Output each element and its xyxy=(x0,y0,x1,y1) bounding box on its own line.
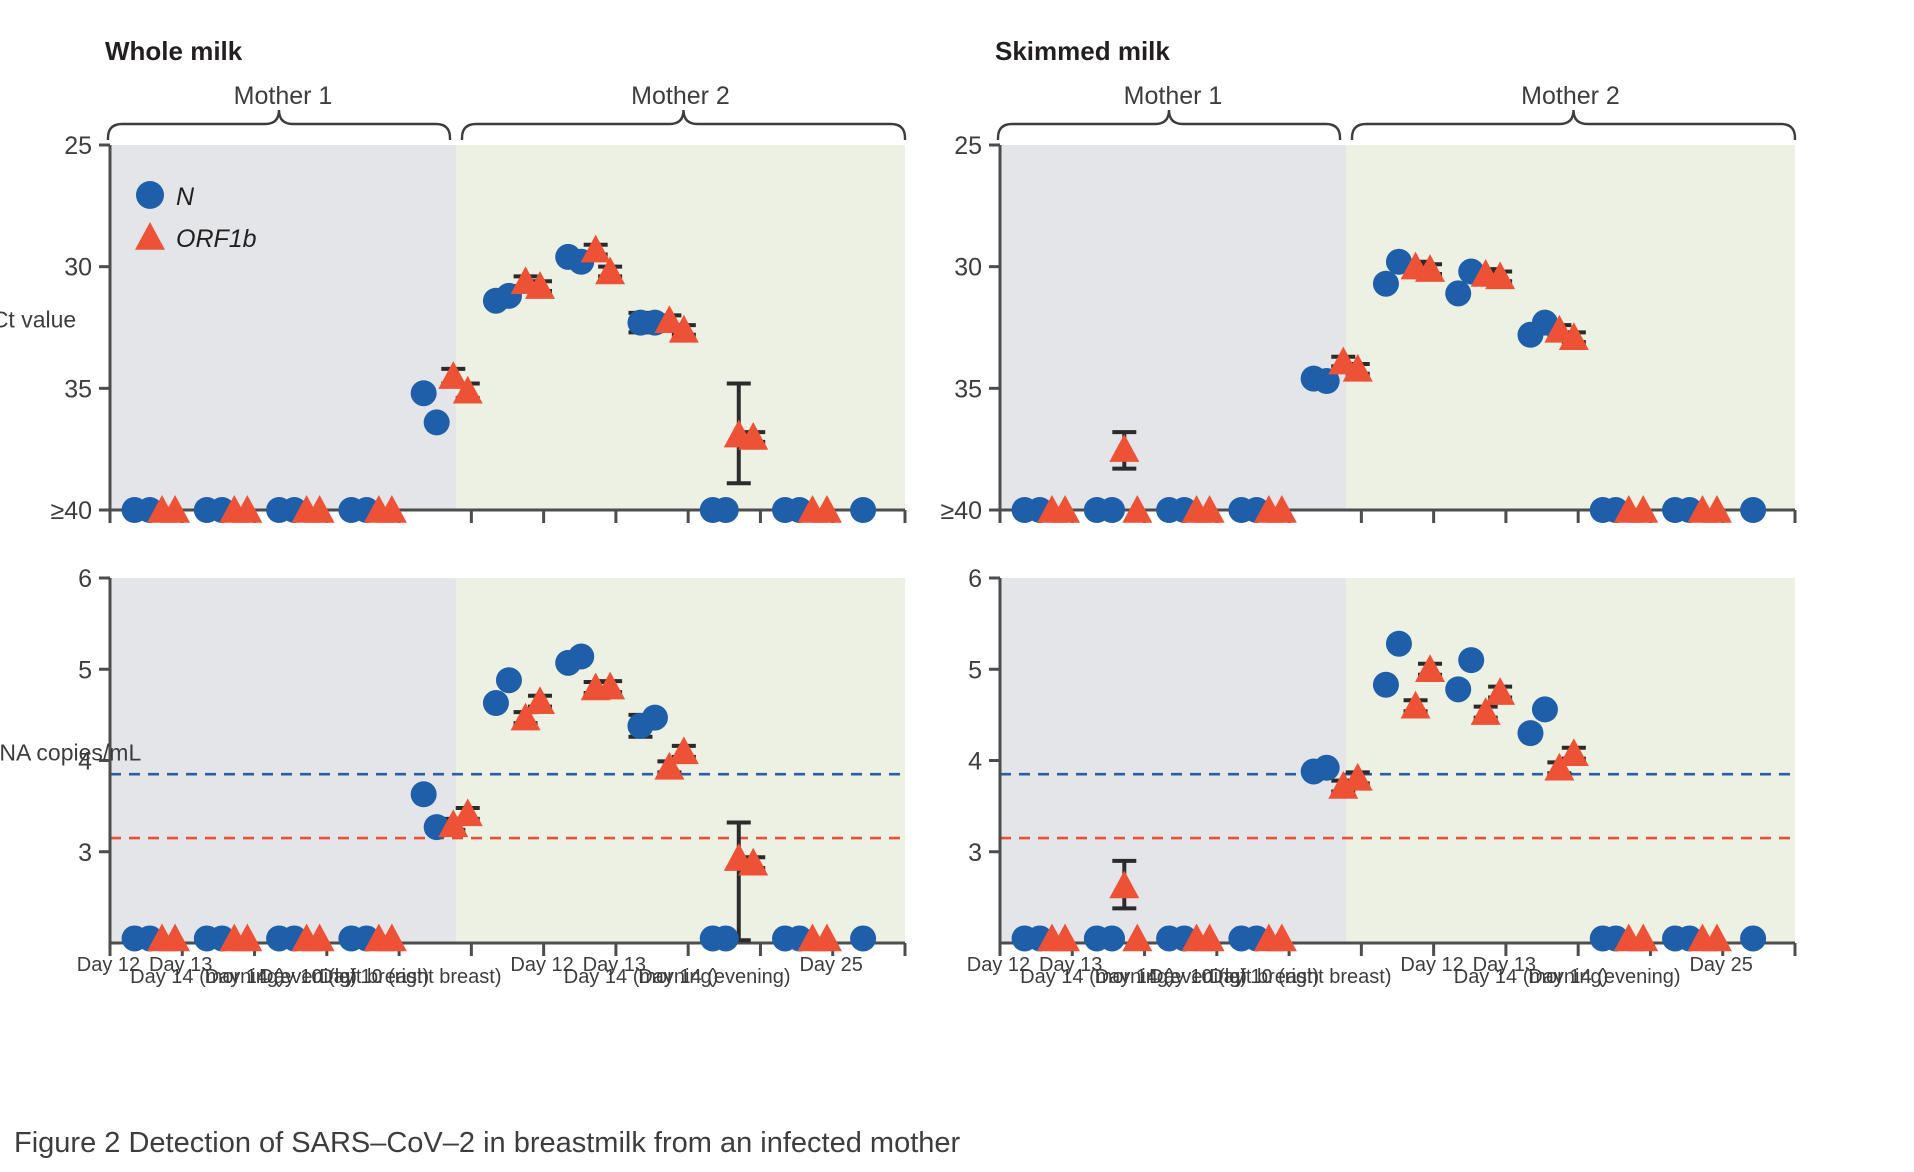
data-point-n xyxy=(1373,672,1399,698)
x-tick-label: Day 14 (evening) xyxy=(638,966,790,988)
y-tick-label: 30 xyxy=(64,254,92,282)
data-point-n xyxy=(1445,676,1471,702)
y-tick-label: 25 xyxy=(954,132,982,160)
data-point-n xyxy=(850,925,876,951)
y-tick-label: ≥40 xyxy=(50,497,92,525)
legend-label-orf1b: ORF1b xyxy=(176,225,257,253)
group-label-mother2: Mother 2 xyxy=(1521,82,1620,110)
mother2-band xyxy=(1346,145,1795,510)
legend-label-n: N xyxy=(176,183,195,211)
group-label-mother2: Mother 2 xyxy=(631,82,730,110)
mother1-band xyxy=(1000,578,1346,943)
data-point-n xyxy=(1445,280,1471,306)
y-tick-label: 5 xyxy=(78,656,92,684)
data-point-n xyxy=(1314,755,1340,781)
data-point-n xyxy=(411,781,437,807)
data-point-n xyxy=(424,409,450,435)
y-tick-label: 25 xyxy=(64,132,92,160)
group-brace xyxy=(108,110,450,140)
legend-marker-n-icon xyxy=(136,181,164,209)
x-tick-label: Day 25 xyxy=(1689,954,1752,976)
y-tick-label: 3 xyxy=(78,839,92,867)
figure-caption: Figure 2 Detection of SARS–CoV–2 in brea… xyxy=(14,1127,961,1159)
x-tick-label: Day 25 xyxy=(799,954,862,976)
data-point-n xyxy=(713,497,739,523)
group-label-mother1: Mother 1 xyxy=(234,82,333,110)
group-header-skim: Mother 1Mother 2 xyxy=(998,82,1795,140)
panel-title-whole-milk: Whole milk xyxy=(105,36,243,66)
y-tick-label: 35 xyxy=(64,375,92,403)
x-tick-label: Day 14 (evening) xyxy=(1528,966,1680,988)
y-tick-label: 6 xyxy=(78,565,92,593)
panel-titles: Whole milkSkimmed milk xyxy=(105,36,1170,66)
y-axis-label: log10 RNA copies/mL xyxy=(0,740,141,770)
data-point-n xyxy=(1458,647,1484,673)
data-point-n xyxy=(1373,271,1399,297)
data-point-n xyxy=(1517,720,1543,746)
y-tick-label: 4 xyxy=(968,748,982,776)
x-tick-label: Day 10 (right breast) xyxy=(319,966,501,988)
data-point-n xyxy=(1740,925,1766,951)
data-point-n xyxy=(1099,497,1125,523)
y-tick-label: 3 xyxy=(968,839,982,867)
group-brace xyxy=(1352,110,1795,140)
y-tick-label: 5 xyxy=(968,656,982,684)
data-point-n xyxy=(642,705,668,731)
figure-container: 253035≥40Ct value6543log10 RNA copies/mL… xyxy=(0,0,1914,1172)
data-point-n xyxy=(411,380,437,406)
chart-skim-ct: 253035≥40 xyxy=(940,132,1795,525)
data-point-n xyxy=(1099,925,1125,951)
mother1-band xyxy=(1000,145,1346,510)
data-point-n xyxy=(1386,631,1412,657)
data-point-n xyxy=(850,497,876,523)
mother1-band xyxy=(110,578,456,943)
chart-whole-rna: 6543log10 RNA copies/mL xyxy=(0,565,905,956)
chart-whole-ct: 253035≥40Ct value xyxy=(0,132,905,525)
data-point-n xyxy=(496,667,522,693)
data-point-n xyxy=(1532,696,1558,722)
y-axis-label: Ct value xyxy=(0,307,76,333)
y-tick-label: 6 xyxy=(968,565,982,593)
data-point-n xyxy=(1740,497,1766,523)
x-axis-labels: Day 12Day 13Day 14 (morning)Day 14 (even… xyxy=(77,954,1753,988)
y-tick-label: 30 xyxy=(954,254,982,282)
y-tick-label: 35 xyxy=(954,375,982,403)
group-brace xyxy=(462,110,905,140)
y-tick-label: ≥40 xyxy=(940,497,982,525)
group-label-mother1: Mother 1 xyxy=(1124,82,1223,110)
group-header-whole: Mother 1Mother 2 xyxy=(108,82,905,140)
data-point-n xyxy=(568,643,594,669)
caption-area: Figure 2 Detection of SARS–CoV–2 in brea… xyxy=(14,1127,961,1159)
figure-svg: 253035≥40Ct value6543log10 RNA copies/mL… xyxy=(0,0,1914,1172)
x-tick-label: Day 10 (right breast) xyxy=(1209,966,1391,988)
data-point-n xyxy=(483,690,509,716)
panel-title-skimmed-milk: Skimmed milk xyxy=(995,36,1170,66)
data-point-n xyxy=(713,925,739,951)
group-brace xyxy=(998,110,1340,140)
chart-skim-rna: 6543 xyxy=(968,565,1795,956)
